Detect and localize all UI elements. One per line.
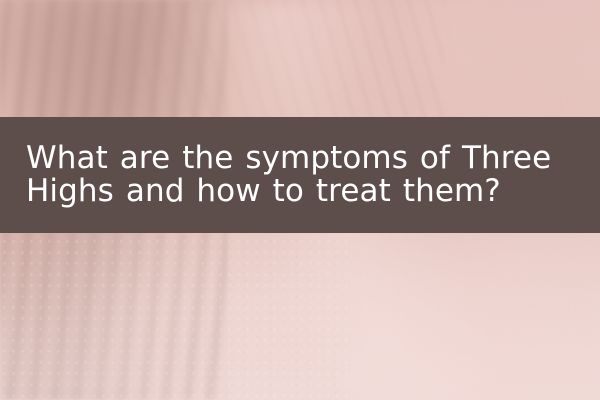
caption-text: What are the symptoms of Three Highs and… bbox=[26, 142, 576, 208]
screenshot-root: What are the symptoms of Three Highs and… bbox=[0, 0, 600, 400]
caption-banner: What are the symptoms of Three Highs and… bbox=[0, 117, 600, 233]
